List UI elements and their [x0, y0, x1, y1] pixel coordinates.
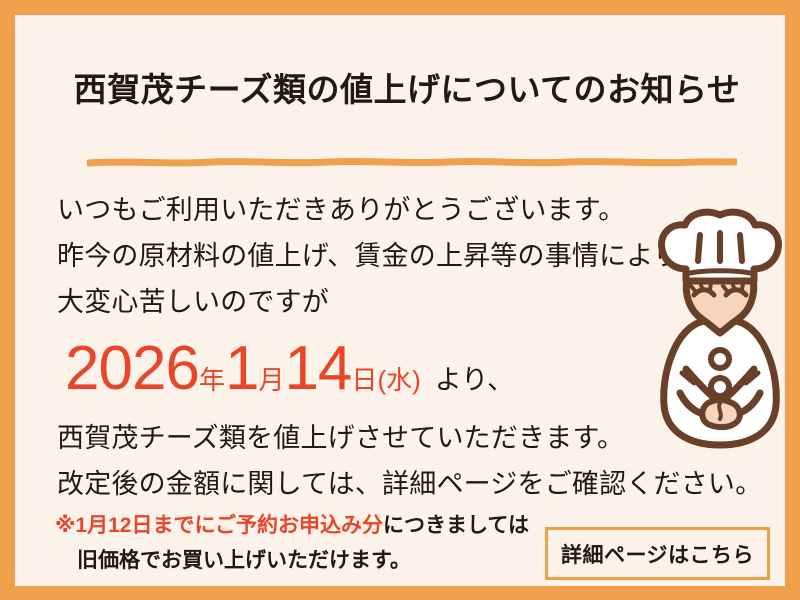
footnote-tail-text: につきましては: [383, 514, 529, 537]
body-line-2: 昨今の原材料の値上げ、賃金の上昇等の事情により、: [57, 243, 706, 270]
footnote-mark: ※: [55, 514, 75, 537]
date-suffix: より、: [435, 367, 514, 394]
page-title: 西賀茂チーズ類の値上げについてのお知らせ: [62, 72, 752, 108]
date-year-unit: 年: [199, 367, 225, 393]
body-line-3: 大変心苦しいのですが: [57, 289, 329, 316]
body-line-4: 西賀茂チーズ類を値上げさせていただきます。: [57, 425, 624, 452]
body-line-1: いつもご利用いただきありがとうございます。: [57, 197, 626, 224]
footnote-line-1: ※1月12日までにご予約お申込み分につきましては: [55, 515, 529, 536]
notice-poster: 西賀茂チーズ類の値上げについてのお知らせ いつもご利用いただきありがとうございま…: [0, 0, 800, 600]
date-weekday: (水): [377, 367, 420, 393]
date-day-unit: 日: [351, 367, 377, 393]
footnote-accent-text: 1月12日までにご予約お申込み分: [75, 514, 383, 537]
date-year: 2026: [65, 338, 199, 400]
body-line-5: 改定後の金額に関しては、詳細ページをご確認ください。: [57, 471, 762, 498]
effective-date-line: 2026 年 1 月 14 日 (水) より、: [65, 338, 514, 400]
details-page-button[interactable]: 詳細ページはこちら: [545, 527, 770, 580]
chef-character-illustration: [650, 207, 785, 455]
poster-inner-panel: 西賀茂チーズ類の値上げについてのお知らせ いつもご利用いただきありがとうございま…: [15, 15, 785, 586]
date-month: 1: [225, 338, 258, 400]
details-page-button-label: 詳細ページはこちら: [561, 539, 754, 569]
date-month-unit: 月: [258, 367, 284, 393]
footnote-line-2: 旧価格でお買い上げいただけます。: [77, 550, 411, 571]
title-divider-rule: [87, 154, 737, 170]
date-day: 14: [284, 338, 351, 400]
